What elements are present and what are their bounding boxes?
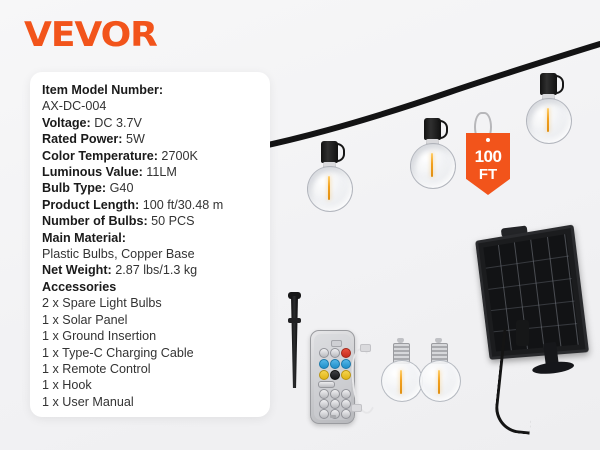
spec-value: G40	[106, 181, 133, 195]
spec-row: 1 x Remote Control	[42, 361, 264, 377]
spec-key: Color Temperature:	[42, 149, 158, 163]
spec-key: Main Material:	[42, 231, 126, 245]
spec-row: Plastic Bulbs, Copper Base	[42, 246, 264, 262]
spec-row: Voltage: DC 3.7V	[42, 115, 264, 131]
spec-value: 1 x Type-C Charging Cable	[42, 346, 194, 360]
spec-key: Luminous Value:	[42, 165, 143, 179]
remote-key-5	[330, 399, 340, 409]
remote-battery-latch	[330, 415, 336, 418]
spec-key: Bulb Type:	[42, 181, 106, 195]
spec-key: Rated Power:	[42, 132, 122, 146]
spec-row: 1 x Type-C Charging Cable	[42, 345, 264, 361]
tag-hole	[486, 138, 490, 142]
spec-key: Accessories	[42, 280, 116, 294]
spec-value: DC 3.7V	[91, 116, 142, 130]
spec-value: 2700K	[158, 149, 198, 163]
spec-value: 2 x Spare Light Bulbs	[42, 296, 162, 310]
spec-key: Net Weight:	[42, 263, 112, 277]
remote-body	[314, 334, 351, 420]
spec-value: 2.87 lbs/1.3 kg	[112, 263, 197, 277]
usb-connector-c	[351, 404, 362, 412]
spec-row: Accessories	[42, 279, 264, 295]
spec-value: 1 x Solar Panel	[42, 313, 127, 327]
remote-button-yellow-1	[319, 370, 329, 380]
spec-value: 11LM	[143, 165, 177, 179]
spec-row: AX-DC-004	[42, 98, 264, 114]
remote-button-blue-2	[330, 359, 340, 369]
spec-row: Item Model Number:	[42, 82, 264, 98]
remote-key-6	[341, 399, 351, 409]
spec-value: 100 ft/30.48 m	[139, 198, 223, 212]
spec-value: Plastic Bulbs, Copper Base	[42, 247, 195, 261]
remote-button-red	[341, 348, 351, 358]
spec-row: Number of Bulbs: 50 PCS	[42, 213, 264, 229]
spec-row: 2 x Spare Light Bulbs	[42, 295, 264, 311]
spec-row: Color Temperature: 2700K	[42, 148, 264, 164]
spec-value: 1 x Remote Control	[42, 362, 151, 376]
remote-key-1	[319, 389, 329, 399]
spec-value: 50 PCS	[148, 214, 195, 228]
spec-row: Main Material:	[42, 230, 264, 246]
spec-row: 1 x Ground Insertion	[42, 328, 264, 344]
remote-button-wide	[318, 381, 335, 388]
remote-key-7	[319, 409, 329, 419]
spec-value: 5W	[122, 132, 144, 146]
product-image-canvas: VEVOR 100 FT	[0, 0, 600, 450]
spec-value: 1 x Ground Insertion	[42, 329, 156, 343]
spec-value: 1 x Hook	[42, 378, 92, 392]
spec-key: Item Model Number:	[42, 83, 163, 97]
remote-button-yellow-2	[341, 370, 351, 380]
spec-value: 1 x User Manual	[42, 395, 134, 409]
specification-list: Item Model Number:AX-DC-004Voltage: DC 3…	[42, 82, 264, 410]
remote-button-mode	[330, 348, 340, 358]
spec-row: 1 x User Manual	[42, 394, 264, 410]
spec-key: Number of Bulbs:	[42, 214, 148, 228]
remote-key-2	[330, 389, 340, 399]
spec-row: Product Length: 100 ft/30.48 m	[42, 197, 264, 213]
spec-row: 1 x Hook	[42, 377, 264, 393]
spec-row: Bulb Type: G40	[42, 180, 264, 196]
spec-key: Voltage:	[42, 116, 91, 130]
ground-stake-ring	[288, 318, 301, 323]
remote-ir-window	[331, 340, 342, 347]
spec-row: Luminous Value: 11LM	[42, 164, 264, 180]
spec-key: Product Length:	[42, 198, 139, 212]
specification-card: Item Model Number:AX-DC-004Voltage: DC 3…	[30, 72, 270, 417]
spec-row: Rated Power: 5W	[42, 131, 264, 147]
spec-row: Net Weight: 2.87 lbs/1.3 kg	[42, 262, 264, 278]
remote-button-power	[319, 348, 329, 358]
tag-length-unit: FT	[466, 165, 510, 182]
remote-button-blue-3	[341, 359, 351, 369]
spec-value: AX-DC-004	[42, 99, 106, 113]
remote-button-blue-1	[319, 359, 329, 369]
remote-key-4	[319, 399, 329, 409]
usb-connector-a	[360, 344, 371, 352]
remote-button-center	[330, 370, 340, 380]
spec-row: 1 x Solar Panel	[42, 312, 264, 328]
remote-key-3	[341, 389, 351, 399]
remote-key-9	[341, 409, 351, 419]
remote-control	[310, 330, 355, 424]
